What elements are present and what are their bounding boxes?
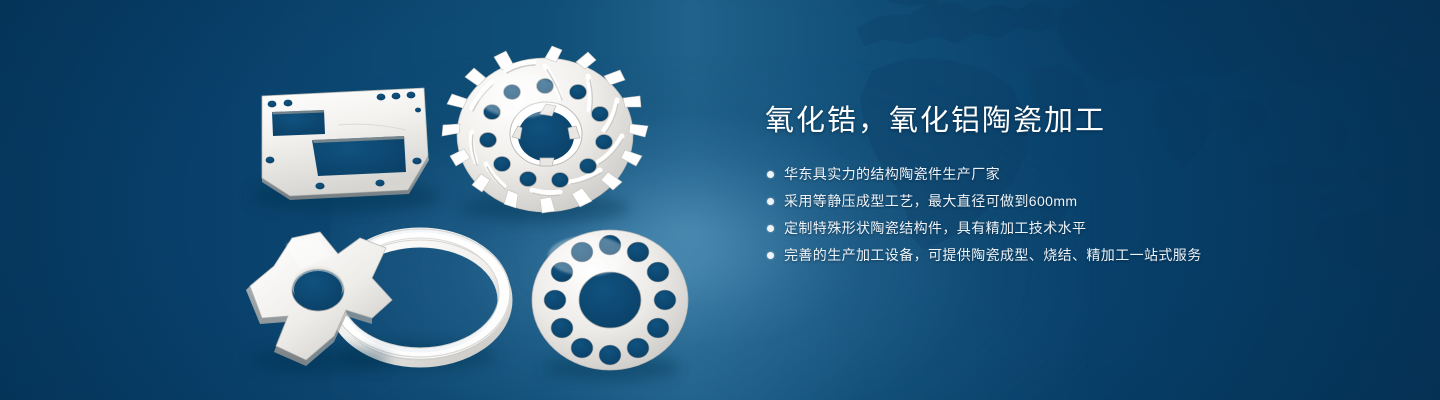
bullet-dot-icon: [767, 171, 774, 178]
list-item-label: 完善的生产加工设备，可提供陶瓷成型、烧结、精加工一站式服务: [784, 246, 1202, 264]
list-item: 华东具实力的结构陶瓷件生产厂家: [765, 165, 1385, 183]
list-item-label: 华东具实力的结构陶瓷件生产厂家: [784, 165, 1000, 183]
feature-list: 华东具实力的结构陶瓷件生产厂家 采用等静压成型工艺，最大直径可做到600mm 定…: [765, 165, 1385, 265]
ceramic-impeller-rotor: [442, 46, 648, 222]
list-item: 定制特殊形状陶瓷结构件，具有精加工技术水平: [765, 219, 1385, 237]
list-item-label: 定制特殊形状陶瓷结构件，具有精加工技术水平: [784, 219, 1086, 237]
page-title: 氧化锆，氧化铝陶瓷加工: [765, 104, 1385, 139]
ceramic-perforated-disc: [532, 230, 688, 380]
hero-banner: 氧化锆，氧化铝陶瓷加工 华东具实力的结构陶瓷件生产厂家 采用等静压成型工艺，最大…: [0, 0, 1440, 400]
bullet-dot-icon: [767, 198, 774, 205]
list-item: 采用等静压成型工艺，最大直径可做到600mm: [765, 192, 1385, 210]
bullet-dot-icon: [767, 252, 774, 259]
list-item: 完善的生产加工设备，可提供陶瓷成型、烧结、精加工一站式服务: [765, 246, 1385, 264]
ceramic-plate-with-cutouts: [250, 88, 440, 212]
ceramic-products-photo: [0, 0, 760, 400]
bullet-dot-icon: [767, 225, 774, 232]
list-item-label: 采用等静压成型工艺，最大直径可做到600mm: [784, 192, 1077, 210]
banner-copy: 氧化锆，氧化铝陶瓷加工 华东具实力的结构陶瓷件生产厂家 采用等静压成型工艺，最大…: [765, 104, 1385, 265]
ceramic-cross-shaped-part: [246, 232, 392, 373]
